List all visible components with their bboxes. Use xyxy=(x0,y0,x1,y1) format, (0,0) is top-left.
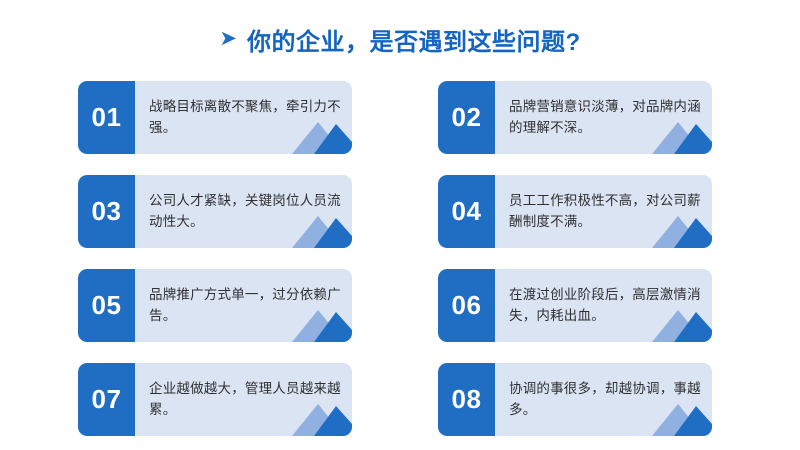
card-text: 品牌营销意识淡薄，对品牌内涵的理解不深。 xyxy=(509,97,702,139)
card-number-label: 03 xyxy=(92,196,122,227)
card-text: 在渡过创业阶段后，高层激情消失，内耗出血。 xyxy=(509,285,702,327)
card-body: 公司人才紧缺，关键岗位人员流动性大。 xyxy=(135,175,352,248)
card-number-label: 02 xyxy=(452,102,482,133)
card-number-badge: 02 xyxy=(438,81,495,154)
card-text: 员工工作积极性不高，对公司薪酬制度不满。 xyxy=(509,191,702,233)
card-number-label: 01 xyxy=(92,102,122,133)
card-text: 协调的事很多，却越协调，事越多。 xyxy=(509,379,702,421)
card-body: 协调的事很多，却越协调，事越多。 xyxy=(495,363,712,436)
card-number-badge: 05 xyxy=(78,269,135,342)
card-number-label: 04 xyxy=(452,196,482,227)
card-number-badge: 06 xyxy=(438,269,495,342)
problem-card[interactable]: 03 公司人才紧缺，关键岗位人员流动性大。 xyxy=(78,175,352,248)
card-body: 战略目标离散不聚焦，牵引力不强。 xyxy=(135,81,352,154)
problem-card[interactable]: 06 在渡过创业阶段后，高层激情消失，内耗出血。 xyxy=(438,269,712,342)
page-title: ➤ 你的企业，是否遇到这些问题? xyxy=(0,22,800,57)
card-body: 品牌推广方式单一，过分依赖广告。 xyxy=(135,269,352,342)
card-number-badge: 03 xyxy=(78,175,135,248)
card-text: 公司人才紧缺，关键岗位人员流动性大。 xyxy=(149,191,342,233)
card-body: 在渡过创业阶段后，高层激情消失，内耗出血。 xyxy=(495,269,712,342)
card-body: 企业越做越大，管理人员越来越累。 xyxy=(135,363,352,436)
card-number-badge: 04 xyxy=(438,175,495,248)
card-number-badge: 08 xyxy=(438,363,495,436)
card-body: 员工工作积极性不高，对公司薪酬制度不满。 xyxy=(495,175,712,248)
problem-card[interactable]: 04 员工工作积极性不高，对公司薪酬制度不满。 xyxy=(438,175,712,248)
page-title-text: 你的企业，是否遇到这些问题? xyxy=(247,22,581,57)
card-number-label: 07 xyxy=(92,384,122,415)
arrow-right-triangle-icon: ➤ xyxy=(219,28,237,49)
problem-card[interactable]: 07 企业越做越大，管理人员越来越累。 xyxy=(78,363,352,436)
card-body: 品牌营销意识淡薄，对品牌内涵的理解不深。 xyxy=(495,81,712,154)
card-text: 品牌推广方式单一，过分依赖广告。 xyxy=(149,285,342,327)
problem-card[interactable]: 05 品牌推广方式单一，过分依赖广告。 xyxy=(78,269,352,342)
card-number-label: 08 xyxy=(452,384,482,415)
card-number-label: 05 xyxy=(92,290,122,321)
card-number-badge: 07 xyxy=(78,363,135,436)
card-number-label: 06 xyxy=(452,290,482,321)
card-text: 企业越做越大，管理人员越来越累。 xyxy=(149,379,342,421)
problem-card[interactable]: 08 协调的事很多，却越协调，事越多。 xyxy=(438,363,712,436)
card-text: 战略目标离散不聚焦，牵引力不强。 xyxy=(149,97,342,139)
card-number-badge: 01 xyxy=(78,81,135,154)
problem-card[interactable]: 02 品牌营销意识淡薄，对品牌内涵的理解不深。 xyxy=(438,81,712,154)
problem-card-grid: 01 战略目标离散不聚焦，牵引力不强。 02 品牌营销意识淡薄，对品牌内涵的理解… xyxy=(78,81,726,436)
problem-card[interactable]: 01 战略目标离散不聚焦，牵引力不强。 xyxy=(78,81,352,154)
